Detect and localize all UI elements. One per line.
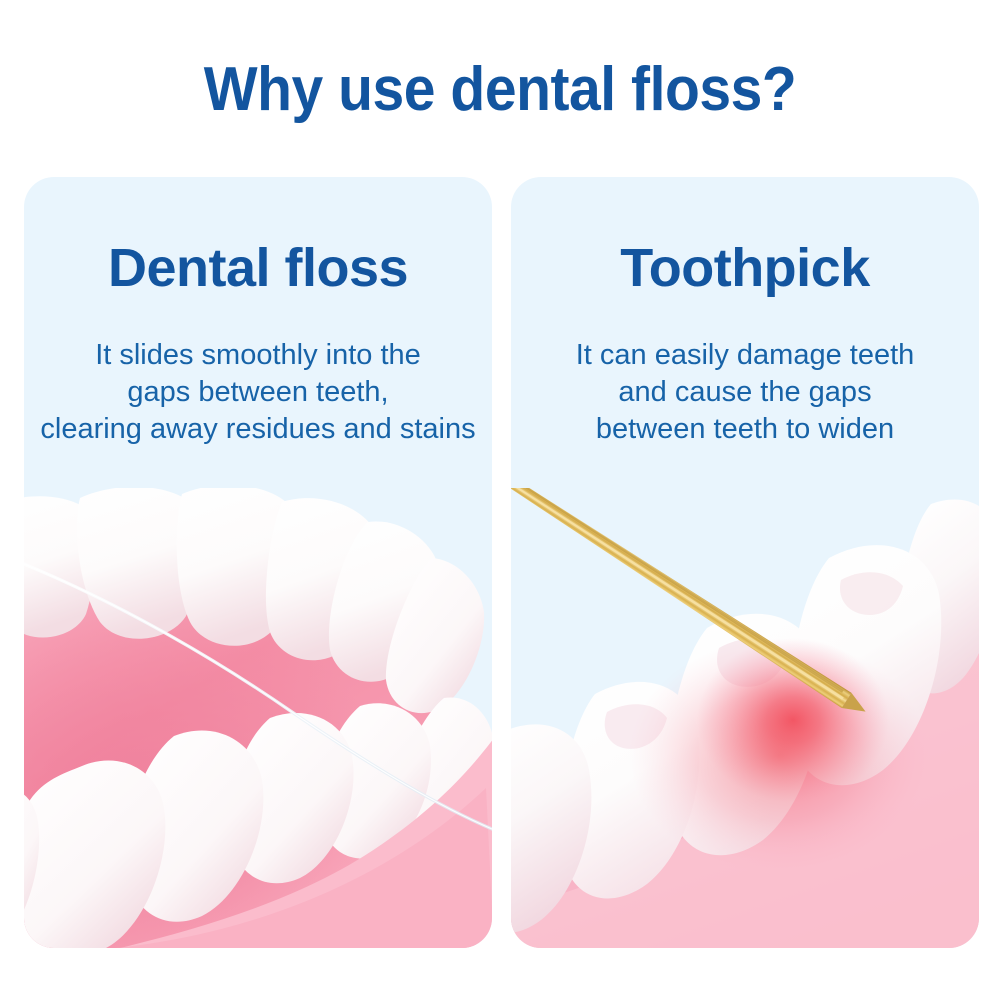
card-body-line: between teeth to widen bbox=[519, 411, 971, 448]
gum-inflammation-halo bbox=[629, 638, 929, 874]
card-dental-floss: Dental floss It slides smoothly into the… bbox=[24, 177, 492, 948]
comparison-cards: Dental floss It slides smoothly into the… bbox=[24, 177, 976, 948]
card-toothpick: Toothpick It can easily damage teeth and… bbox=[511, 177, 979, 948]
card-body-line: clearing away residues and stains bbox=[32, 411, 484, 448]
molars-toothpick-svg bbox=[511, 488, 979, 948]
card-heading-toothpick: Toothpick bbox=[511, 237, 979, 299]
card-heading-dental-floss: Dental floss bbox=[24, 237, 492, 299]
card-body-line: It slides smoothly into the bbox=[32, 337, 484, 374]
illustration-dental-floss bbox=[24, 488, 492, 948]
card-body-dental-floss: It slides smoothly into the gaps between… bbox=[24, 337, 492, 448]
dental-arch-floss-svg bbox=[24, 488, 492, 948]
card-body-line: It can easily damage teeth bbox=[519, 337, 971, 374]
card-body-toothpick: It can easily damage teeth and cause the… bbox=[511, 337, 979, 448]
page-title: Why use dental floss? bbox=[40, 55, 960, 125]
card-body-line: gaps between teeth, bbox=[32, 374, 484, 411]
illustration-toothpick bbox=[511, 488, 979, 948]
card-body-line: and cause the gaps bbox=[519, 374, 971, 411]
